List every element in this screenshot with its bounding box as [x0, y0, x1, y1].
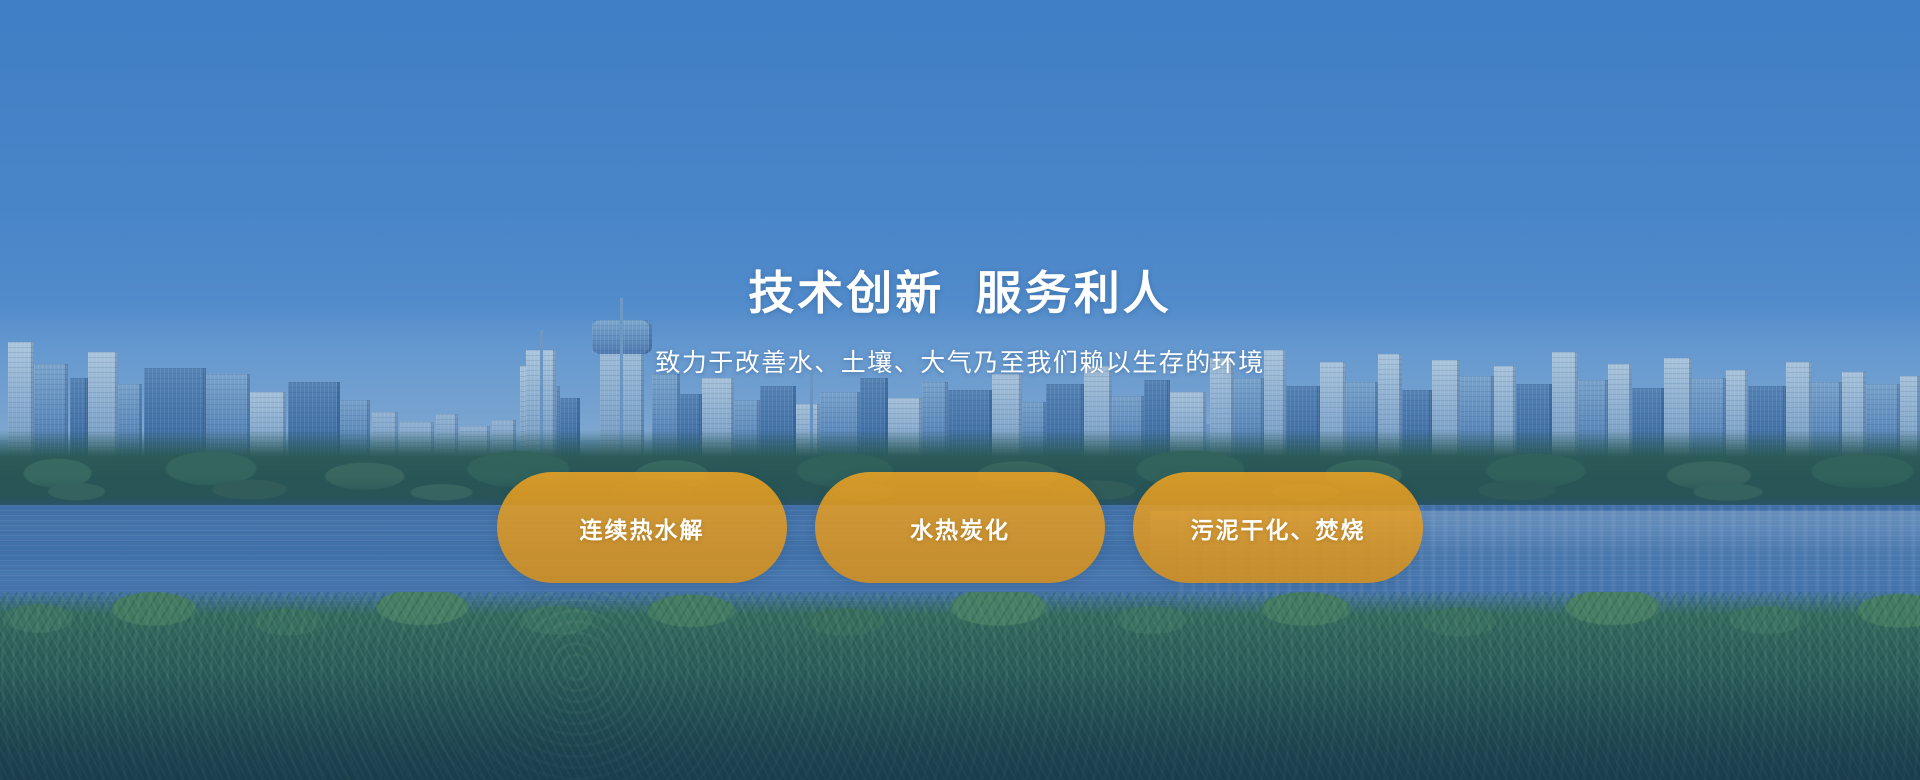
pill-button-label: 污泥干化、焚烧: [1191, 511, 1366, 545]
hero-button-group: 连续热水解 水热炭化 污泥干化、焚烧: [0, 472, 1920, 583]
pill-button-label: 连续热水解: [580, 511, 705, 545]
pill-button-continuous-thermal-hydrolysis[interactable]: 连续热水解: [497, 472, 787, 583]
hero-banner: 技术创新 服务利人 致力于改善水、土壤、大气乃至我们赖以生存的环境 连续热水解 …: [0, 0, 1920, 780]
hero-content: 技术创新 服务利人 致力于改善水、土壤、大气乃至我们赖以生存的环境 连续热水解 …: [0, 0, 1920, 780]
hero-subheadline: 致力于改善水、土壤、大气乃至我们赖以生存的环境: [0, 347, 1920, 380]
pill-button-hydrothermal-carbonization[interactable]: 水热炭化: [815, 472, 1105, 583]
pill-button-label: 水热炭化: [910, 511, 1010, 545]
hero-headline: 技术创新 服务利人: [0, 266, 1920, 321]
pill-button-sludge-drying-incineration[interactable]: 污泥干化、焚烧: [1133, 472, 1423, 583]
